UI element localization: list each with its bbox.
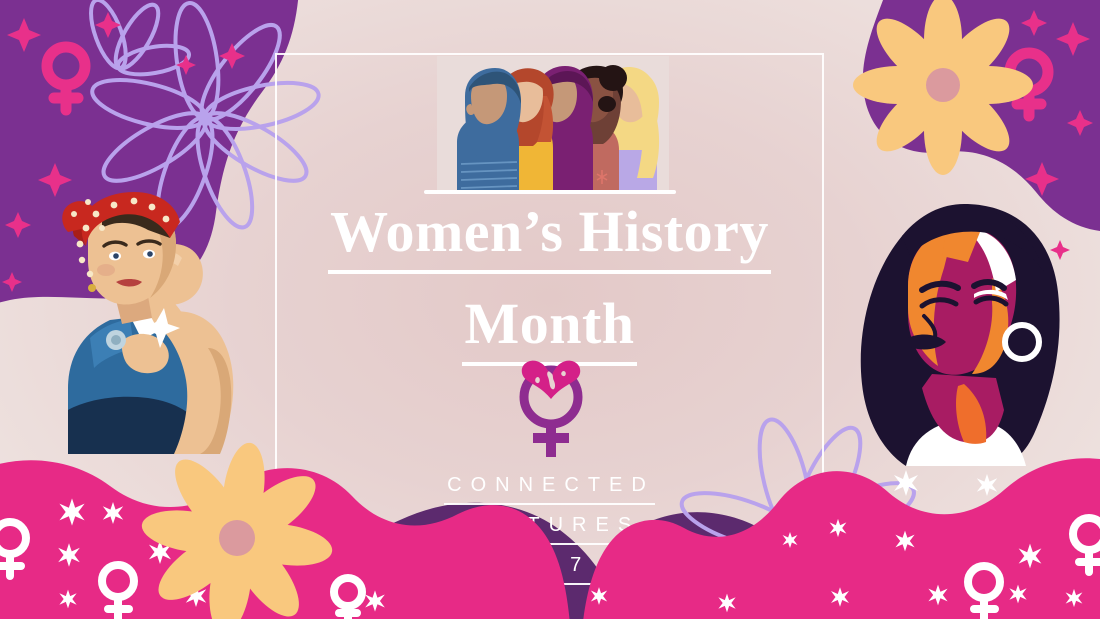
orange-daisy-flower-bottom-left	[139, 440, 335, 619]
poster-canvas: Women’s History Month CONNECTED CULTURES	[0, 0, 1100, 619]
orange-flower-layer	[0, 0, 1100, 619]
orange-daisy-flower-top-right	[853, 0, 1033, 175]
